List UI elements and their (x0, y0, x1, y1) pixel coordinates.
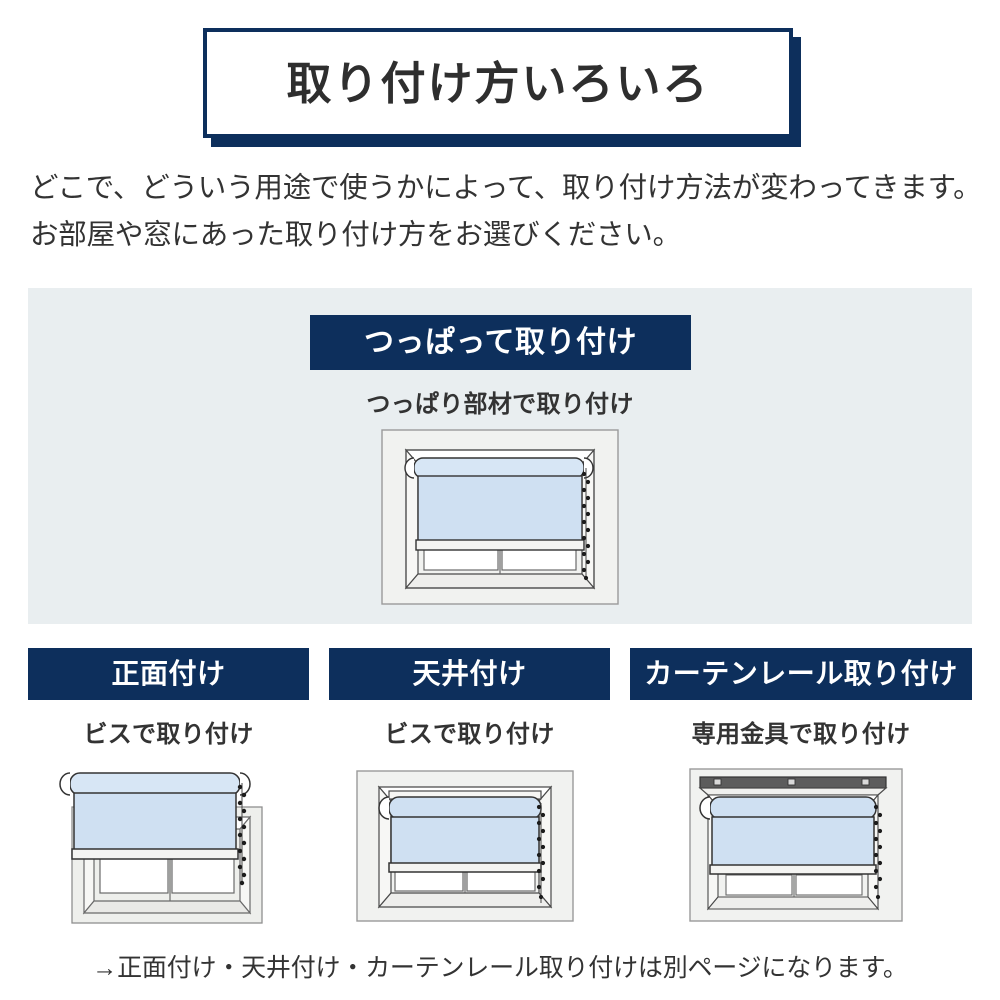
curtain-rail-mount-illustration (676, 761, 926, 929)
tsuppari-subtitle: つっぱり部材で取り付け (28, 384, 972, 419)
mount-card-curtain-rail[interactable]: カーテンレール取り付け 専用金具で取り付け (630, 648, 972, 938)
mount-card-curtain-rail-label: カーテンレール取り付け (644, 660, 958, 688)
mount-card-front-label: 正面付け (111, 660, 225, 688)
mount-card-front[interactable]: 正面付け ビスで取り付け (28, 648, 309, 938)
intro-line-2: お部屋や窓にあった取り付け方をお選びください。 (30, 212, 980, 259)
title-box: 取り付け方いろいろ (203, 28, 793, 138)
mount-card-ceiling-header: 天井付け (329, 648, 610, 700)
ceiling-mount-illustration (345, 761, 595, 929)
mount-card-front-header: 正面付け (28, 648, 309, 700)
mount-card-front-subtitle: ビスで取り付け (28, 714, 309, 749)
intro-paragraph: どこで、どういう用途で使うかによって、取り付け方法が変わってきます。 お部屋や窓… (30, 165, 980, 259)
tsuppari-mount-illustration (380, 428, 620, 606)
intro-line-1: どこで、どういう用途で使うかによって、取り付け方法が変わってきます。 (30, 165, 980, 212)
page-title: 取り付け方いろいろ (286, 61, 709, 106)
other-pages-note: →正面付け・天井付け・カーテンレール取り付けは別ページになります。 (0, 948, 1000, 984)
mount-card-ceiling-label: 天井付け (412, 660, 526, 688)
tsuppari-header-label: つっぱって取り付け (364, 328, 637, 358)
tsuppari-header-badge: つっぱって取り付け (310, 315, 691, 370)
tsuppari-feature-panel: つっぱって取り付け つっぱり部材で取り付け (28, 288, 972, 624)
mount-type-card-list: 正面付け ビスで取り付け (28, 648, 972, 938)
page-title-banner: 取り付け方いろいろ (203, 28, 793, 138)
mount-card-curtain-rail-header: カーテンレール取り付け (630, 648, 972, 700)
mount-card-ceiling-subtitle: ビスで取り付け (329, 714, 610, 749)
front-mount-illustration (44, 761, 294, 929)
mount-card-curtain-rail-subtitle: 専用金具で取り付け (630, 714, 972, 749)
mount-card-ceiling[interactable]: 天井付け ビスで取り付け (329, 648, 610, 938)
installation-methods-page: 取り付け方いろいろ どこで、どういう用途で使うかによって、取り付け方法が変わって… (0, 0, 1000, 1000)
